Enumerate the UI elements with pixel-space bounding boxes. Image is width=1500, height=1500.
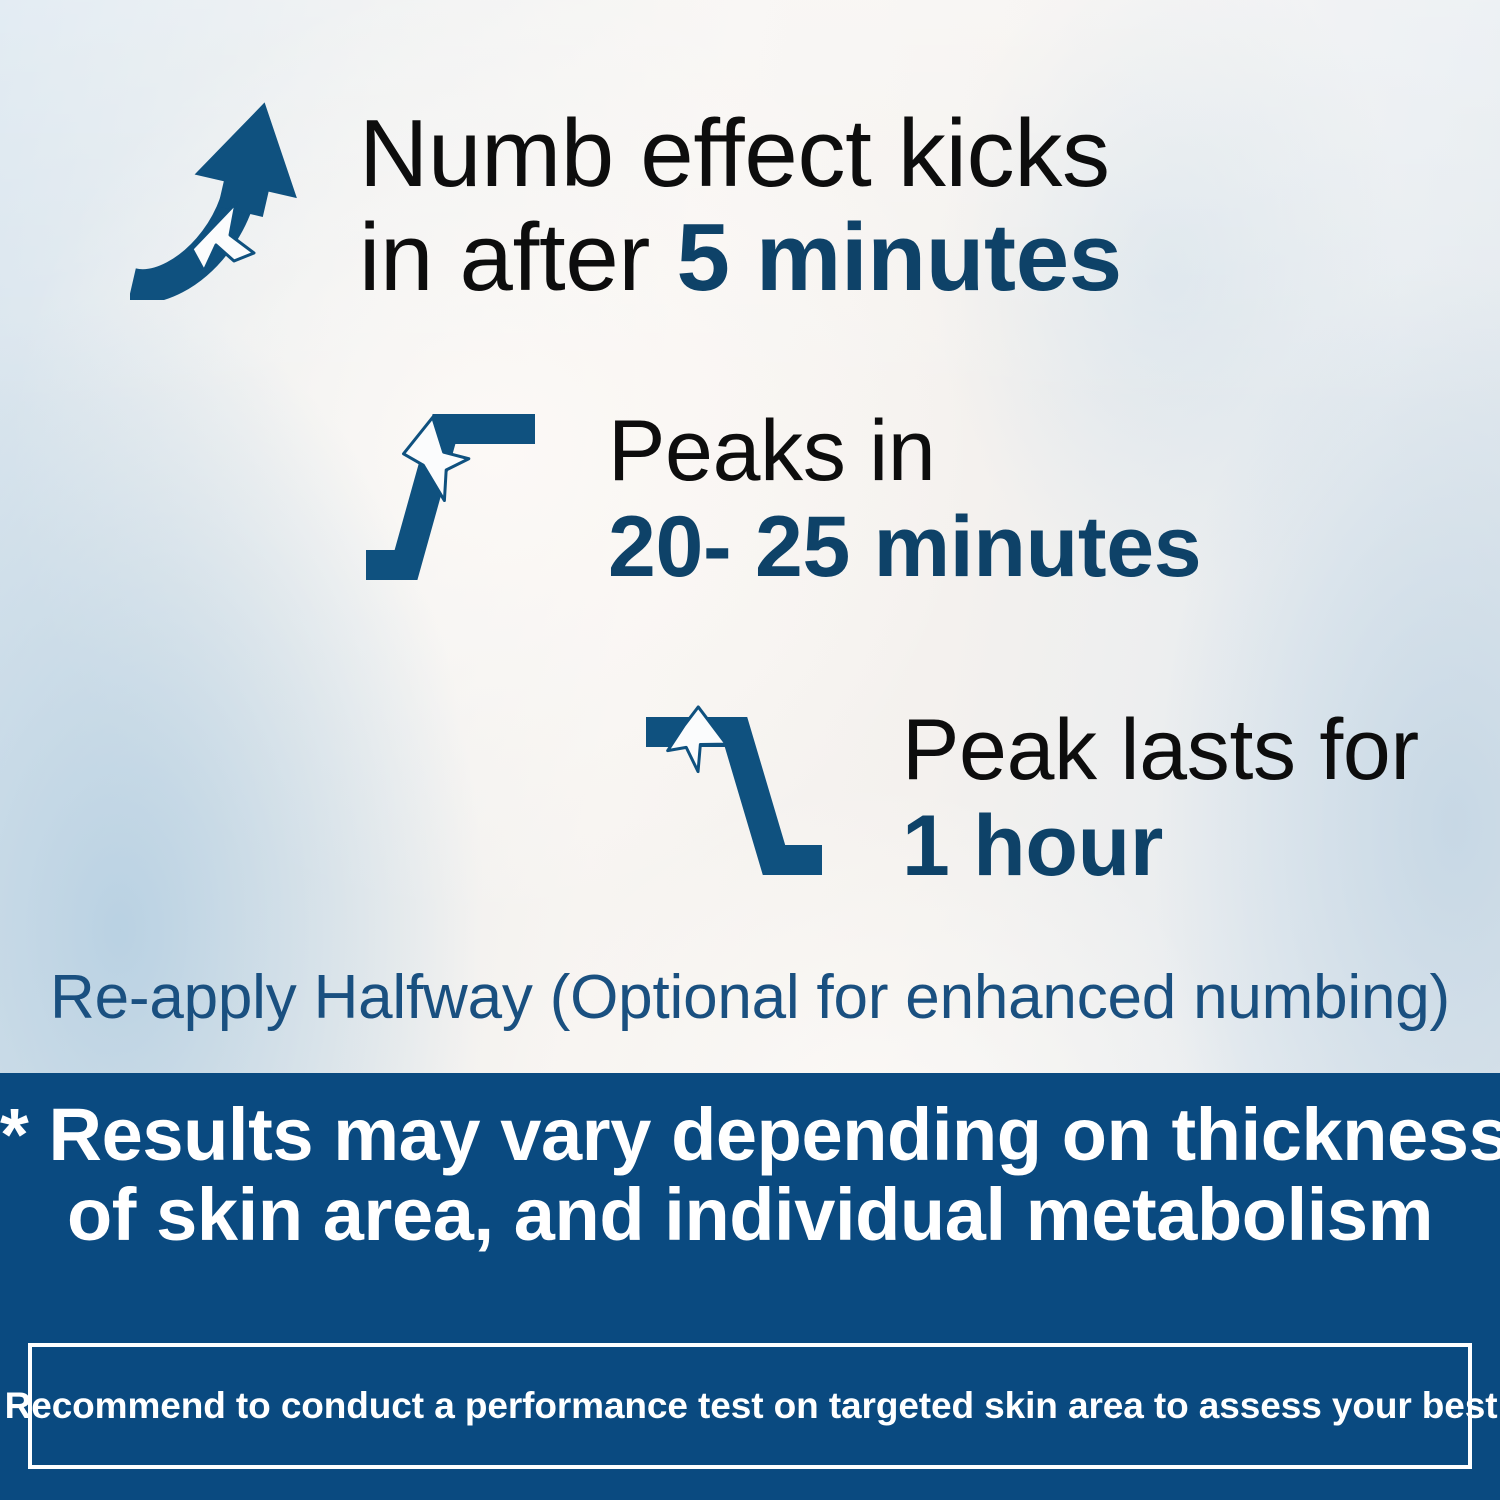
recommendation-text: Highly Recommend to conduct a performanc…: [0, 1385, 1500, 1427]
disclaimer-line-2: of skin area, and individual metabolism: [0, 1175, 1500, 1255]
step-1-line2-text: in after: [359, 204, 676, 311]
reapply-note: Re-apply Halfway (Optional for enhanced …: [0, 962, 1500, 1033]
step-2-text: Peaks in 20- 25 minutes: [608, 409, 1201, 590]
step-2-line1-text: Peaks in: [608, 403, 935, 499]
step-3-highlight: 1 hour: [902, 798, 1163, 894]
step-row-3: Peak lasts for 1 hour: [640, 700, 1419, 889]
step-row-2: Peaks in 20- 25 minutes: [360, 405, 1201, 590]
step-2-highlight: 20- 25 minutes: [608, 499, 1201, 595]
step-1-line1-text: Numb effect kicks: [359, 100, 1110, 207]
disclaimer-text: * Results may vary depending on thicknes…: [0, 1095, 1500, 1255]
step-1-highlight: 5 minutes: [676, 204, 1121, 311]
plateau-decline-arrow-icon: [640, 700, 840, 880]
step-1-line2: in after 5 minutes: [359, 211, 1122, 305]
step-3-line1: Peak lasts for: [902, 708, 1419, 792]
step-3-line1-text: Peak lasts for: [902, 702, 1419, 798]
step-3-line2: 1 hour: [902, 804, 1419, 888]
step-1-line1: Numb effect kicks: [359, 107, 1122, 201]
disclaimer-line-1: * Results may vary depending on thicknes…: [0, 1095, 1500, 1175]
rising-curved-arrow-icon: [130, 95, 315, 305]
step-2-line2: 20- 25 minutes: [608, 505, 1201, 589]
step-up-plateau-arrow-icon: [360, 405, 550, 585]
footer-banner: * Results may vary depending on thicknes…: [0, 1073, 1500, 1500]
step-row-1: Numb effect kicks in after 5 minutes: [130, 95, 1122, 305]
infographic-poster: Numb effect kicks in after 5 minutes P: [0, 0, 1500, 1500]
step-3-text: Peak lasts for 1 hour: [902, 708, 1419, 889]
steps-section: Numb effect kicks in after 5 minutes P: [0, 0, 1500, 1073]
recommendation-box: Highly Recommend to conduct a performanc…: [28, 1343, 1472, 1469]
step-2-line1: Peaks in: [608, 409, 1201, 493]
step-1-text: Numb effect kicks in after 5 minutes: [359, 107, 1122, 305]
